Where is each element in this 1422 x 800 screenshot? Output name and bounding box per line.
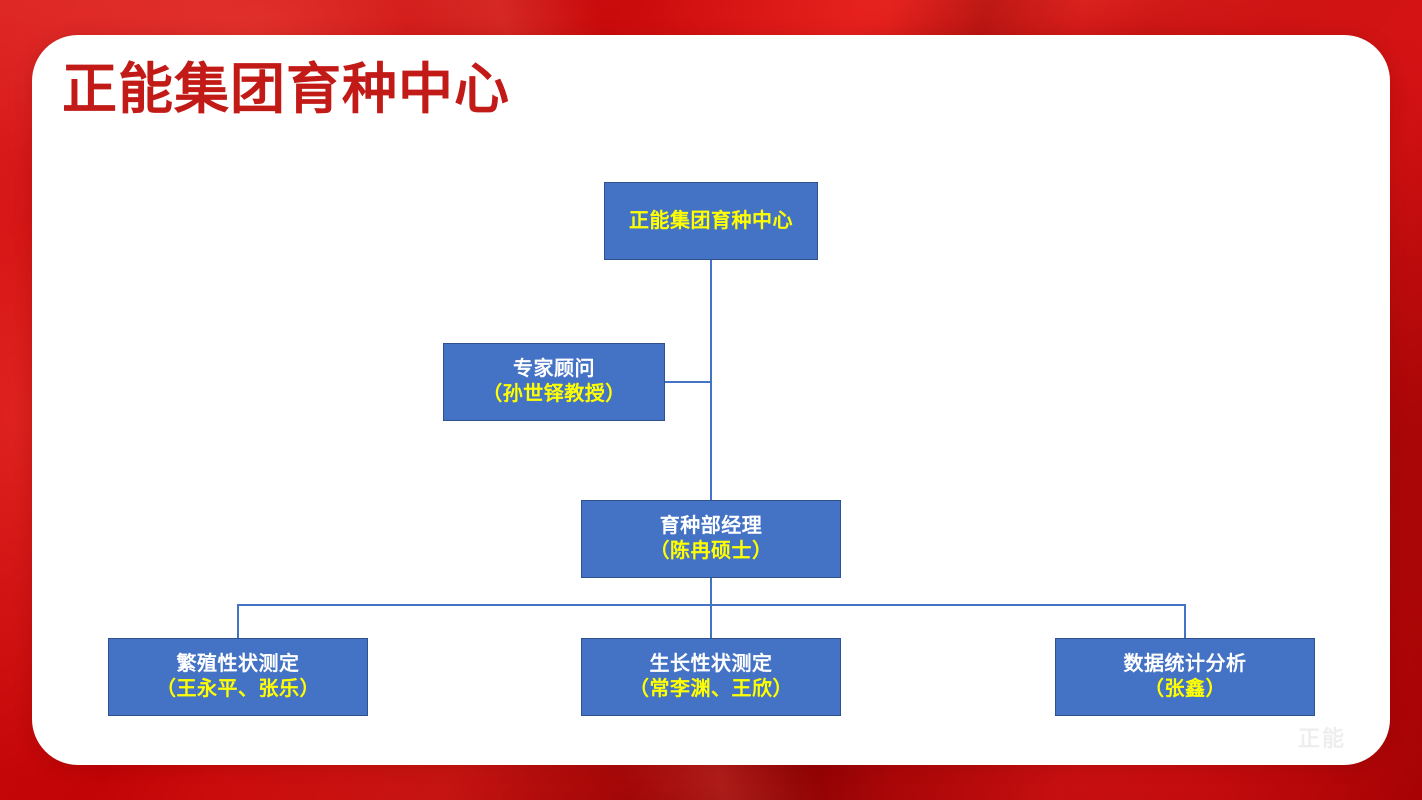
slide-canvas: 正能集团育种中心 正能集团育种中心 [0, 0, 1422, 800]
org-node-growth-traits-title: 生长性状测定 [650, 652, 773, 677]
org-node-data-statistics[interactable]: 数据统计分析 （张鑫） [1055, 638, 1315, 716]
org-node-reproduction-traits-person: （王永平、张乐） [156, 677, 320, 702]
org-node-root[interactable]: 正能集团育种中心 [604, 182, 818, 260]
slide-content-card: 正能集团育种中心 正能集团育种中心 [32, 35, 1390, 765]
org-node-manager[interactable]: 育种部经理 （陈冉硕士） [581, 500, 841, 578]
org-node-growth-traits-person: （常李渊、王欣） [629, 677, 793, 702]
org-node-advisor-title: 专家顾问 [513, 357, 595, 382]
org-chart: 正能集团育种中心 专家顾问 （孙世铎教授） 育种部经理 （陈冉硕士） 繁殖性状测… [32, 35, 1390, 765]
org-node-advisor[interactable]: 专家顾问 （孙世铎教授） [443, 343, 665, 421]
org-node-growth-traits[interactable]: 生长性状测定 （常李渊、王欣） [581, 638, 841, 716]
org-node-data-statistics-person: （张鑫） [1144, 677, 1226, 702]
org-node-advisor-person: （孙世铎教授） [482, 382, 626, 407]
org-node-manager-title: 育种部经理 [660, 514, 763, 539]
org-node-data-statistics-title: 数据统计分析 [1124, 652, 1247, 677]
org-node-reproduction-traits-title: 繁殖性状测定 [177, 652, 300, 677]
org-node-reproduction-traits[interactable]: 繁殖性状测定 （王永平、张乐） [108, 638, 368, 716]
org-node-root-title: 正能集团育种中心 [629, 209, 793, 234]
org-node-manager-person: （陈冉硕士） [650, 539, 773, 564]
watermark: 正能 [1298, 721, 1346, 753]
